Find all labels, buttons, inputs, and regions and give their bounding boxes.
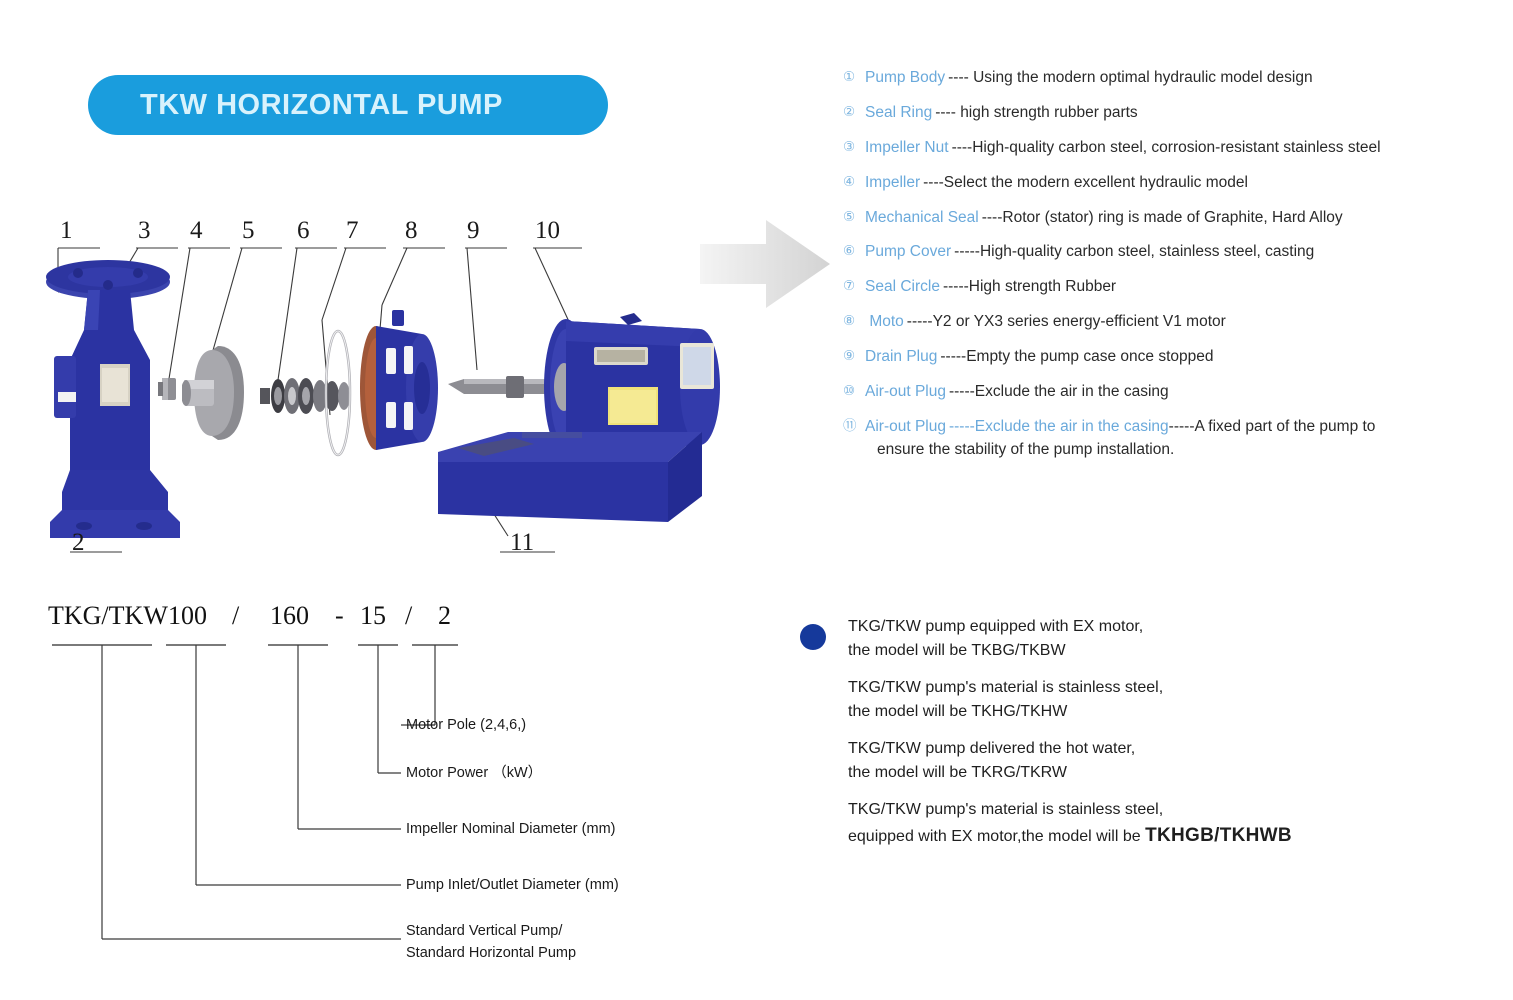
breakdown-label-impeller-diameter: Impeller Nominal Diameter (mm) (406, 819, 615, 840)
legend-number-9: ⑨ (843, 347, 865, 365)
legend-desc-8: Y2 or YX3 series energy-efficient V1 mot… (933, 313, 1226, 330)
legend-dash-4: ---- (923, 174, 944, 191)
legend-desc-4: Select the modern excellent hydraulic mo… (944, 174, 1248, 191)
legend-desc-7: High strength Rubber (969, 278, 1116, 295)
legend-number-5: ⑤ (843, 208, 865, 226)
impeller-nut (158, 372, 184, 408)
callout-number-6: 6 (297, 218, 310, 243)
exploded-pump-diagram: 1 3 4 5 6 7 8 9 10 2 11 (30, 200, 730, 575)
legend-desc-6: High-quality carbon steel, stainless ste… (980, 243, 1314, 260)
note-line-8-prefix: equipped with EX motor,the model will be (848, 828, 1145, 845)
callout-number-5: 5 (242, 218, 255, 243)
legend-item-4: ④ Impeller----Select the modern excellen… (843, 173, 1503, 192)
legend-item-11-continuation: ensure the stability of the pump install… (865, 441, 1503, 459)
legend-dash-10: ----- (949, 383, 975, 400)
code-token-series: TKG/TKW (48, 601, 168, 631)
legend-dash-7: ----- (943, 278, 969, 295)
note-line-6: the model will be TKRG/TKRW (848, 764, 1420, 782)
legend-number-3: ③ (843, 138, 865, 156)
code-token-pole: 2 (438, 601, 451, 631)
legend-desc-blue-11: Exclude the air in the casing (975, 418, 1169, 435)
callout-number-2: 2 (72, 530, 85, 555)
breakdown-label-standard-pump-2: Standard Horizontal Pump (406, 943, 576, 964)
legend-item-1: ① Pump Body---- Using the modern optimal… (843, 68, 1503, 87)
code-token-power: 15 (360, 601, 386, 631)
callout-number-10: 10 (535, 218, 560, 243)
legend-number-1: ① (843, 68, 865, 86)
note-line-1: TKG/TKW pump equipped with EX motor, (848, 618, 1420, 636)
legend-dash-2: ---- (935, 104, 956, 121)
code-token-slash-1: / (232, 601, 239, 631)
callout-number-4: 4 (190, 218, 203, 243)
legend-dash2-11: ----- (1169, 418, 1195, 435)
legend-desc-10: Exclude the air in the casing (975, 383, 1169, 400)
legend-dash-5: ---- (982, 209, 1003, 226)
note-line-3: TKG/TKW pump's material is stainless ste… (848, 679, 1420, 697)
code-token-inlet: 100 (168, 601, 207, 631)
legend-part-name-4: Impeller (865, 174, 920, 191)
note-line-4: the model will be TKHG/TKHW (848, 703, 1420, 721)
legend-item-7: ⑦ Seal Circle-----High strength Rubber (843, 277, 1503, 296)
code-token-dash: - (335, 601, 344, 631)
note-line-8-model: TKHGB/TKHWB (1145, 825, 1292, 846)
legend-item-8: ⑧ Moto-----Y2 or YX3 series energy-effic… (843, 312, 1503, 331)
breakdown-label-standard-pump-1: Standard Vertical Pump/ (406, 921, 562, 942)
legend-number-8: ⑧ (843, 312, 865, 330)
code-token-slash-2: / (405, 601, 412, 631)
callout-number-3: 3 (138, 218, 151, 243)
legend-dash-3: ---- (952, 139, 973, 156)
model-code-breakdown: TKG/TKW 100 / 160 - 15 / 2 (30, 595, 730, 975)
callout-number-8: 8 (405, 218, 418, 243)
legend-item-2: ② Seal Ring---- high strength rubber par… (843, 103, 1503, 122)
bullet-dot-icon (800, 624, 826, 650)
legend-desc-2: high strength rubber parts (960, 104, 1138, 121)
base-plate (430, 418, 720, 548)
legend-part-name-5: Mechanical Seal (865, 209, 979, 226)
legend-number-10: ⑩ (843, 382, 865, 400)
breakdown-label-inlet-diameter: Pump Inlet/Outlet Diameter (mm) (406, 875, 619, 896)
legend-number-4: ④ (843, 173, 865, 191)
legend-number-6: ⑥ (843, 242, 865, 260)
legend-item-11: ⑪ Air-out Plug-----Exclude the air in th… (843, 417, 1503, 436)
legend-dash-6: ----- (954, 243, 980, 260)
legend-item-10: ⑩ Air-out Plug-----Exclude the air in th… (843, 382, 1503, 401)
legend-part-name-6: Pump Cover (865, 243, 951, 260)
legend-part-name-1: Pump Body (865, 69, 945, 86)
legend-desc-9: Empty the pump case once stopped (966, 348, 1213, 365)
legend-part-name-10: Air-out Plug (865, 383, 946, 400)
impeller (182, 340, 262, 450)
legend-part-name-2: Seal Ring (865, 104, 932, 121)
legend-number-2: ② (843, 103, 865, 121)
legend-dash-11: ----- (949, 418, 975, 435)
legend-desc-5: Rotor (stator) ring is made of Graphite,… (1002, 209, 1342, 226)
legend-part-name-11: Air-out Plug (865, 418, 946, 435)
callout-number-7: 7 (346, 218, 359, 243)
legend-part-name-8: Moto (869, 313, 903, 330)
note-line-7: TKG/TKW pump's material is stainless ste… (848, 801, 1420, 819)
note-line-8: equipped with EX motor,the model will be… (848, 825, 1420, 847)
page-title-badge: TKW HORIZONTAL PUMP (88, 75, 608, 135)
callout-number-1: 1 (60, 218, 73, 243)
page-title: TKW HORIZONTAL PUMP (140, 89, 503, 122)
legend-dash-1: ---- (948, 69, 969, 86)
legend-item-3: ③ Impeller Nut----High-quality carbon st… (843, 138, 1503, 157)
breakdown-leader-lines (30, 639, 730, 979)
legend-desc-dark-11: A fixed part of the pump to (1194, 418, 1375, 435)
legend-dash-8: ----- (907, 313, 933, 330)
legend-part-name-3: Impeller Nut (865, 139, 949, 156)
breakdown-label-motor-power: Motor Power （kW） (406, 763, 542, 784)
legend-part-name-7: Seal Circle (865, 278, 940, 295)
parts-legend-list: ① Pump Body---- Using the modern optimal… (843, 68, 1503, 474)
breakdown-label-motor-pole: Motor Pole (2,4,6,) (406, 715, 526, 736)
model-variants-notes: TKG/TKW pump equipped with EX motor, the… (800, 612, 1420, 866)
legend-item-6: ⑥ Pump Cover-----High-quality carbon ste… (843, 242, 1503, 261)
legend-desc-1: Using the modern optimal hydraulic model… (973, 69, 1312, 86)
note-line-2: the model will be TKBG/TKBW (848, 642, 1420, 660)
legend-item-9: ⑨ Drain Plug-----Empty the pump case onc… (843, 347, 1503, 366)
note-line-5: TKG/TKW pump delivered the hot water, (848, 740, 1420, 758)
legend-item-5: ⑤ Mechanical Seal----Rotor (stator) ring… (843, 208, 1503, 227)
legend-number-11: ⑪ (843, 417, 865, 435)
callout-number-9: 9 (467, 218, 480, 243)
flow-arrow (700, 218, 830, 310)
legend-desc-3: High-quality carbon steel, corrosion-res… (972, 139, 1380, 156)
legend-dash-9: ----- (940, 348, 966, 365)
callout-number-11: 11 (510, 530, 534, 555)
code-token-impeller: 160 (270, 601, 309, 631)
legend-part-name-9: Drain Plug (865, 348, 937, 365)
legend-number-7: ⑦ (843, 277, 865, 295)
